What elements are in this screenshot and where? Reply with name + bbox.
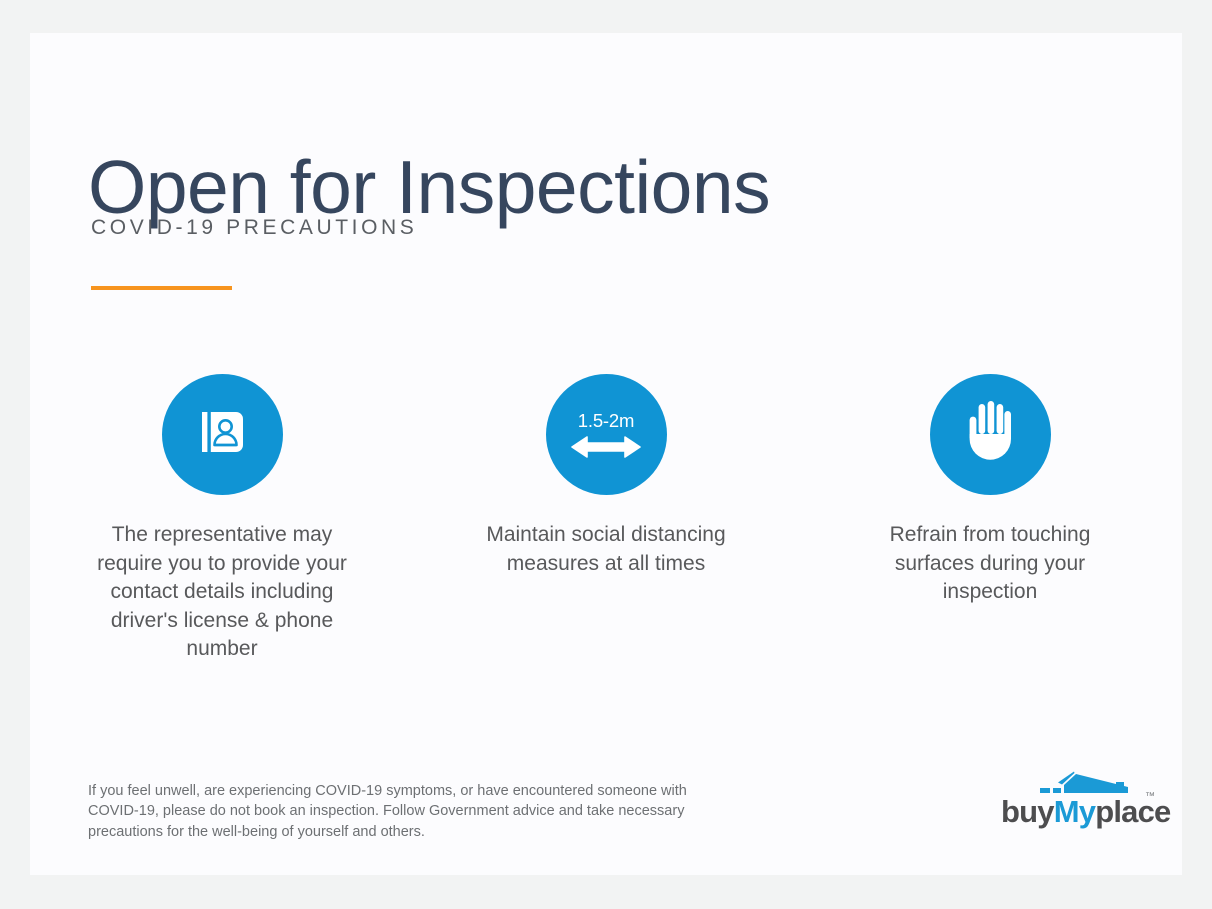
precaution-caption: The representative may require you to pr… (77, 521, 367, 664)
distance-label: 1.5-2m (578, 411, 634, 431)
precaution-caption: Refrain from touching surfaces during yo… (865, 521, 1115, 607)
logo-word-place: place (1095, 794, 1170, 829)
precaution-icon-badge (930, 374, 1051, 495)
accent-divider (91, 286, 232, 290)
page-subtitle: COVID-19 Precautions (91, 215, 417, 241)
poster-card: Open for Inspections COVID-19 Precaution… (30, 33, 1182, 875)
id-card-contact-icon (191, 401, 253, 468)
logo-word-my: My (1054, 794, 1095, 829)
buymyplace-logo: buyMyplace ™ (995, 769, 1165, 839)
social-distance-arrow-icon: 1.5-2m (570, 411, 642, 459)
open-hand-stop-icon (963, 400, 1017, 469)
precaution-icon-badge: 1.5-2m (546, 374, 667, 495)
trademark-symbol: ™ (1145, 791, 1155, 802)
precaution-icon-badge (162, 374, 283, 495)
precaution-item-social-distancing: 1.5-2m Maintain social distancing measur… (414, 374, 798, 578)
precaution-item-no-touching: Refrain from touching surfaces during yo… (798, 374, 1182, 607)
logo-word-buy: buy (1001, 794, 1054, 829)
precautions-list: The representative may require you to pr… (30, 374, 1182, 664)
footer-disclaimer: If you feel unwell, are experiencing COV… (88, 781, 738, 843)
precaution-item-contact-details: The representative may require you to pr… (30, 374, 414, 664)
precaution-caption: Maintain social distancing measures at a… (461, 521, 751, 578)
